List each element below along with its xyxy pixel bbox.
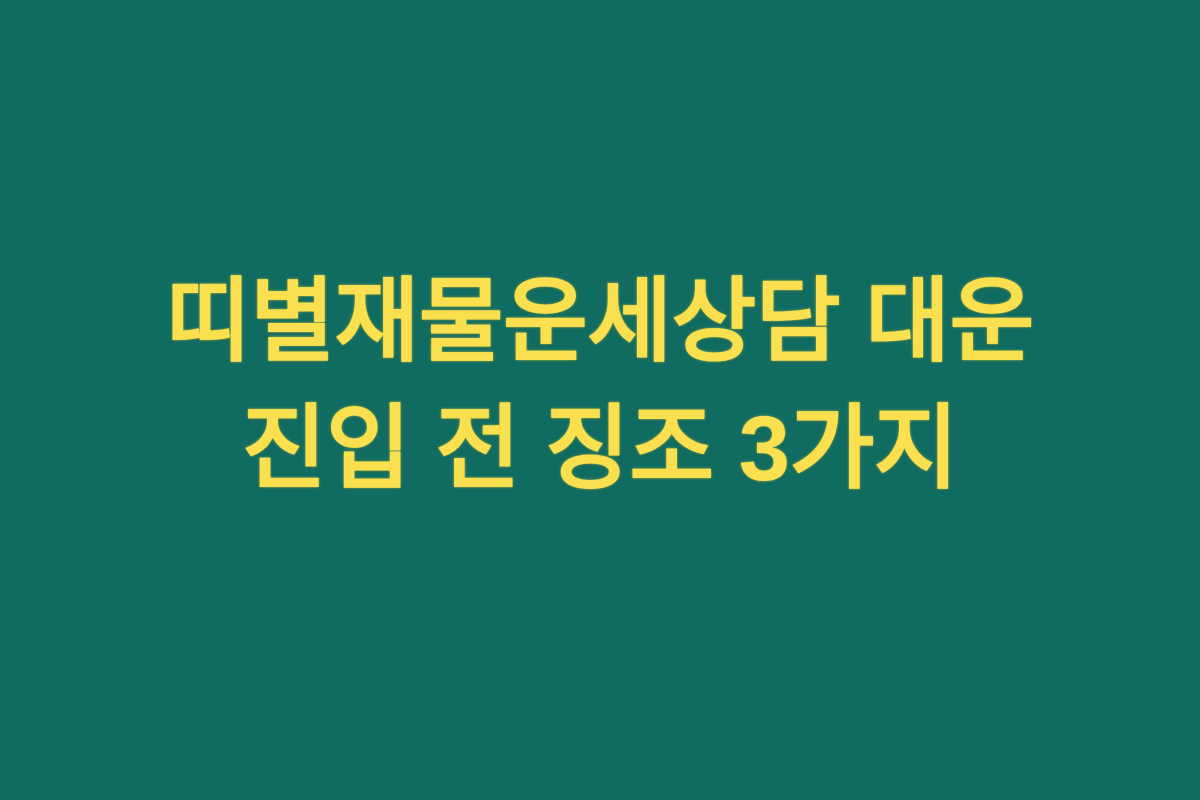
- headline-line-2: 진입 전 징조 3가지: [40, 387, 1160, 512]
- headline-block: 띠별재물운세상담 대운 진입 전 징조 3가지: [40, 260, 1160, 512]
- thumbnail-card: 띠별재물운세상담 대운 진입 전 징조 3가지: [0, 0, 1200, 800]
- headline-line-1: 띠별재물운세상담 대운: [40, 260, 1160, 385]
